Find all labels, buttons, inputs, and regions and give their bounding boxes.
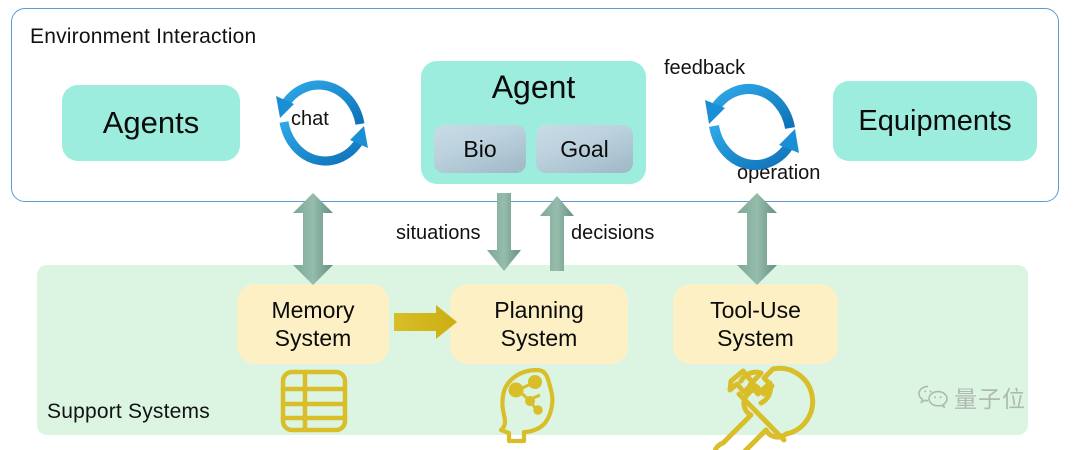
agents-box: Agents xyxy=(62,85,240,161)
chat-cycle-label: chat xyxy=(291,108,329,131)
memory-system-line1: Memory xyxy=(271,296,354,324)
equipments-box: Equipments xyxy=(833,81,1037,161)
decisions-label: decisions xyxy=(571,222,654,245)
watermark: 量子位 xyxy=(918,380,1026,414)
tool-use-system-line1: Tool-Use xyxy=(710,296,801,324)
agent-bio-subbox: Bio xyxy=(434,125,526,173)
diagram-canvas: Environment Interaction Agents Equipment… xyxy=(0,0,1080,450)
wechat-icon xyxy=(918,384,948,410)
planning-system-box: Planning System xyxy=(450,284,628,364)
situations-down-arrow xyxy=(487,193,521,271)
tool-use-system-line2: System xyxy=(717,324,794,352)
support-systems-label: Support Systems xyxy=(47,400,210,424)
agent-box-title: Agent xyxy=(421,69,646,106)
memory-system-line2: System xyxy=(275,324,352,352)
environment-interaction-label: Environment Interaction xyxy=(30,25,256,49)
decisions-up-arrow xyxy=(540,196,574,271)
planning-system-line1: Planning xyxy=(494,296,584,324)
feedback-label: feedback xyxy=(664,57,745,80)
watermark-text: 量子位 xyxy=(954,380,1026,414)
operation-label: operation xyxy=(737,162,820,185)
memory-system-box: Memory System xyxy=(237,284,389,364)
agent-box: Agent Bio Goal xyxy=(421,61,646,184)
agent-goal-subbox: Goal xyxy=(536,125,633,173)
planning-system-line2: System xyxy=(501,324,578,352)
situations-label: situations xyxy=(396,222,481,245)
tool-use-system-box: Tool-Use System xyxy=(673,284,838,364)
